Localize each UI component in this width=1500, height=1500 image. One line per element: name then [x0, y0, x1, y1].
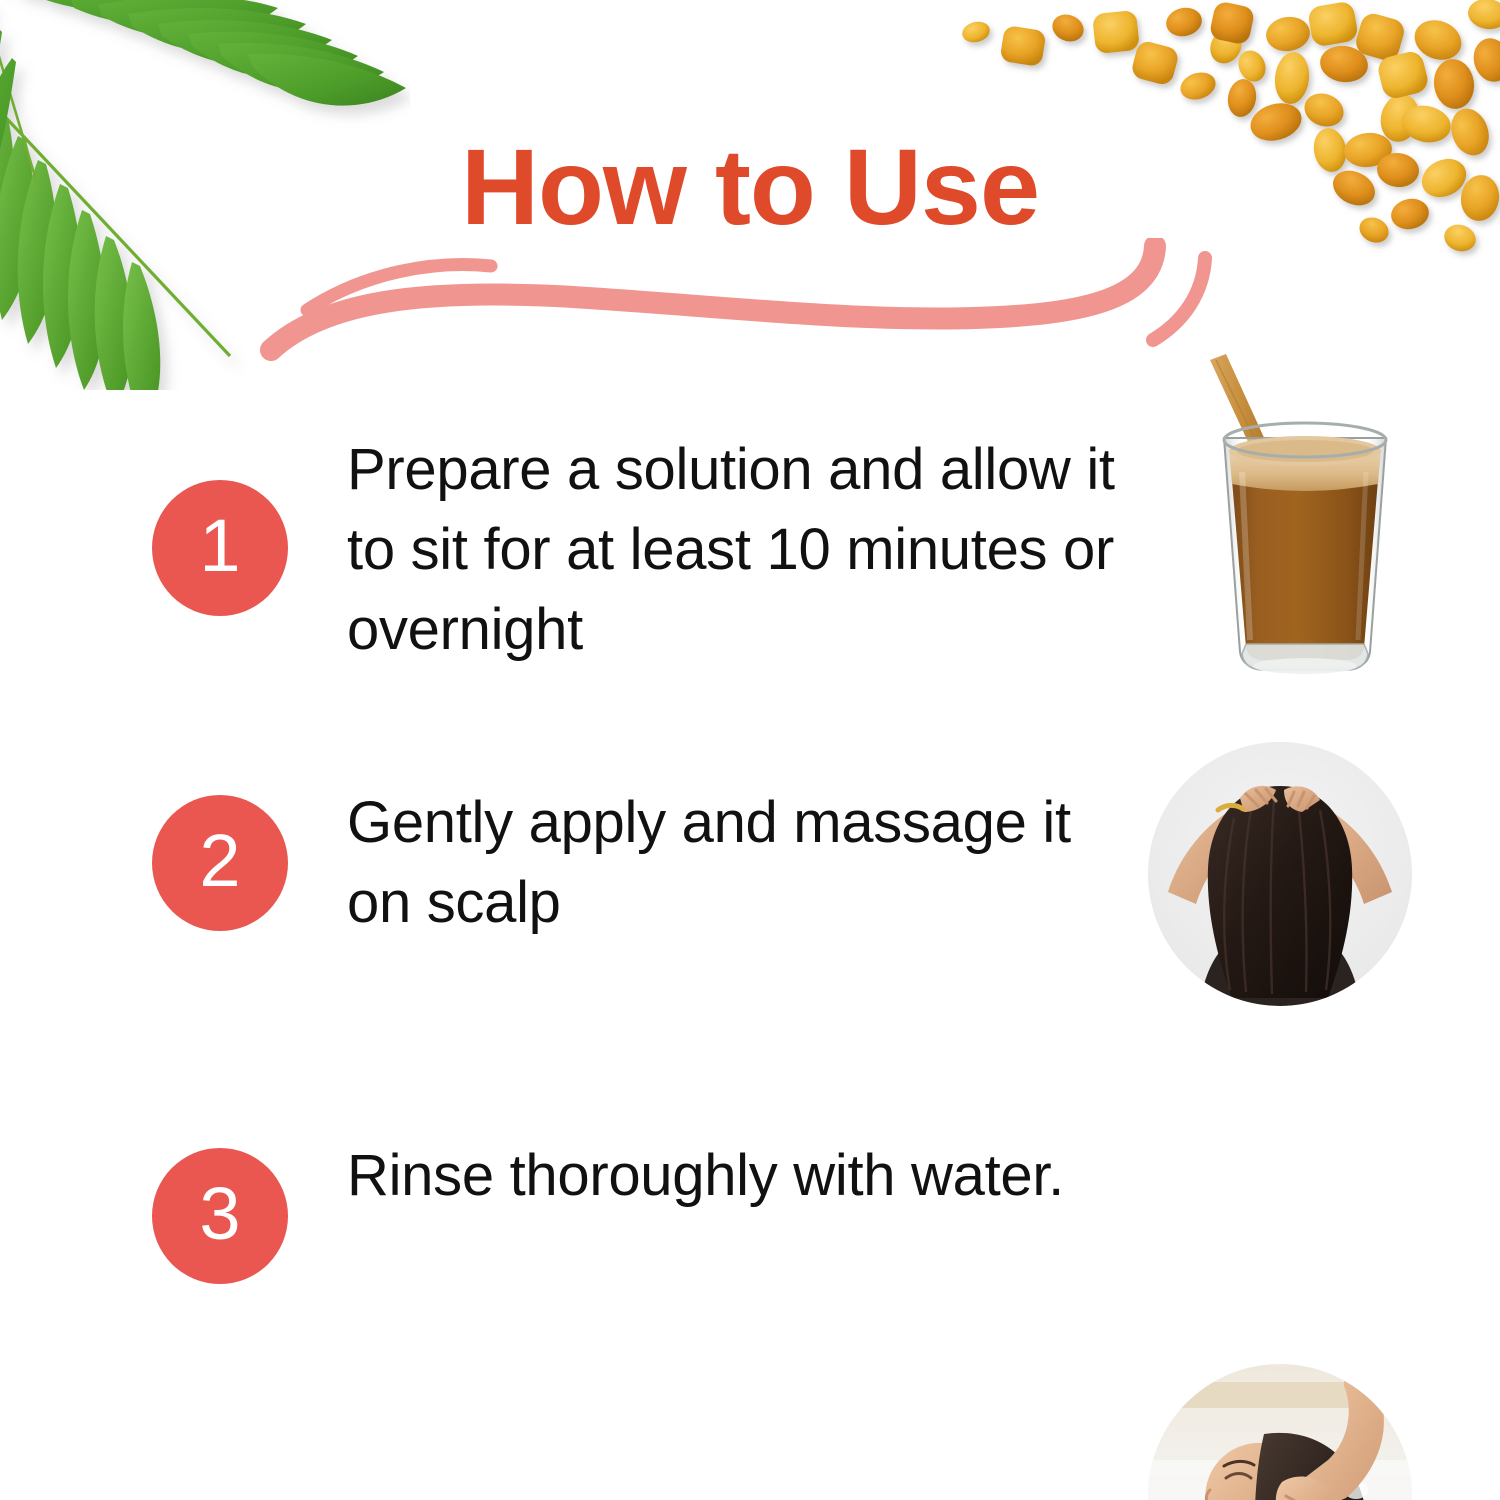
glass-of-solution-image — [1180, 352, 1430, 682]
step-number-1: 1 — [199, 509, 240, 583]
step-badge-2: 2 — [152, 795, 288, 931]
step-text-3: Rinse thoroughly with water. — [347, 1136, 1147, 1216]
step-item-3: 3 Rinse thoroughly with water. — [0, 1098, 1500, 1388]
how-to-use-poster: How to Use 1 Prepare a solution and allo… — [0, 0, 1500, 1500]
scalp-massage-photo — [1148, 742, 1412, 1006]
step-text-2: Gently apply and massage it on scalp — [347, 783, 1147, 943]
step-text-1: Prepare a solution and allow it to sit f… — [347, 430, 1147, 670]
step-badge-1: 1 — [152, 480, 288, 616]
step-number-3: 3 — [199, 1177, 240, 1251]
step-number-2: 2 — [199, 824, 240, 898]
step-badge-3: 3 — [152, 1148, 288, 1284]
